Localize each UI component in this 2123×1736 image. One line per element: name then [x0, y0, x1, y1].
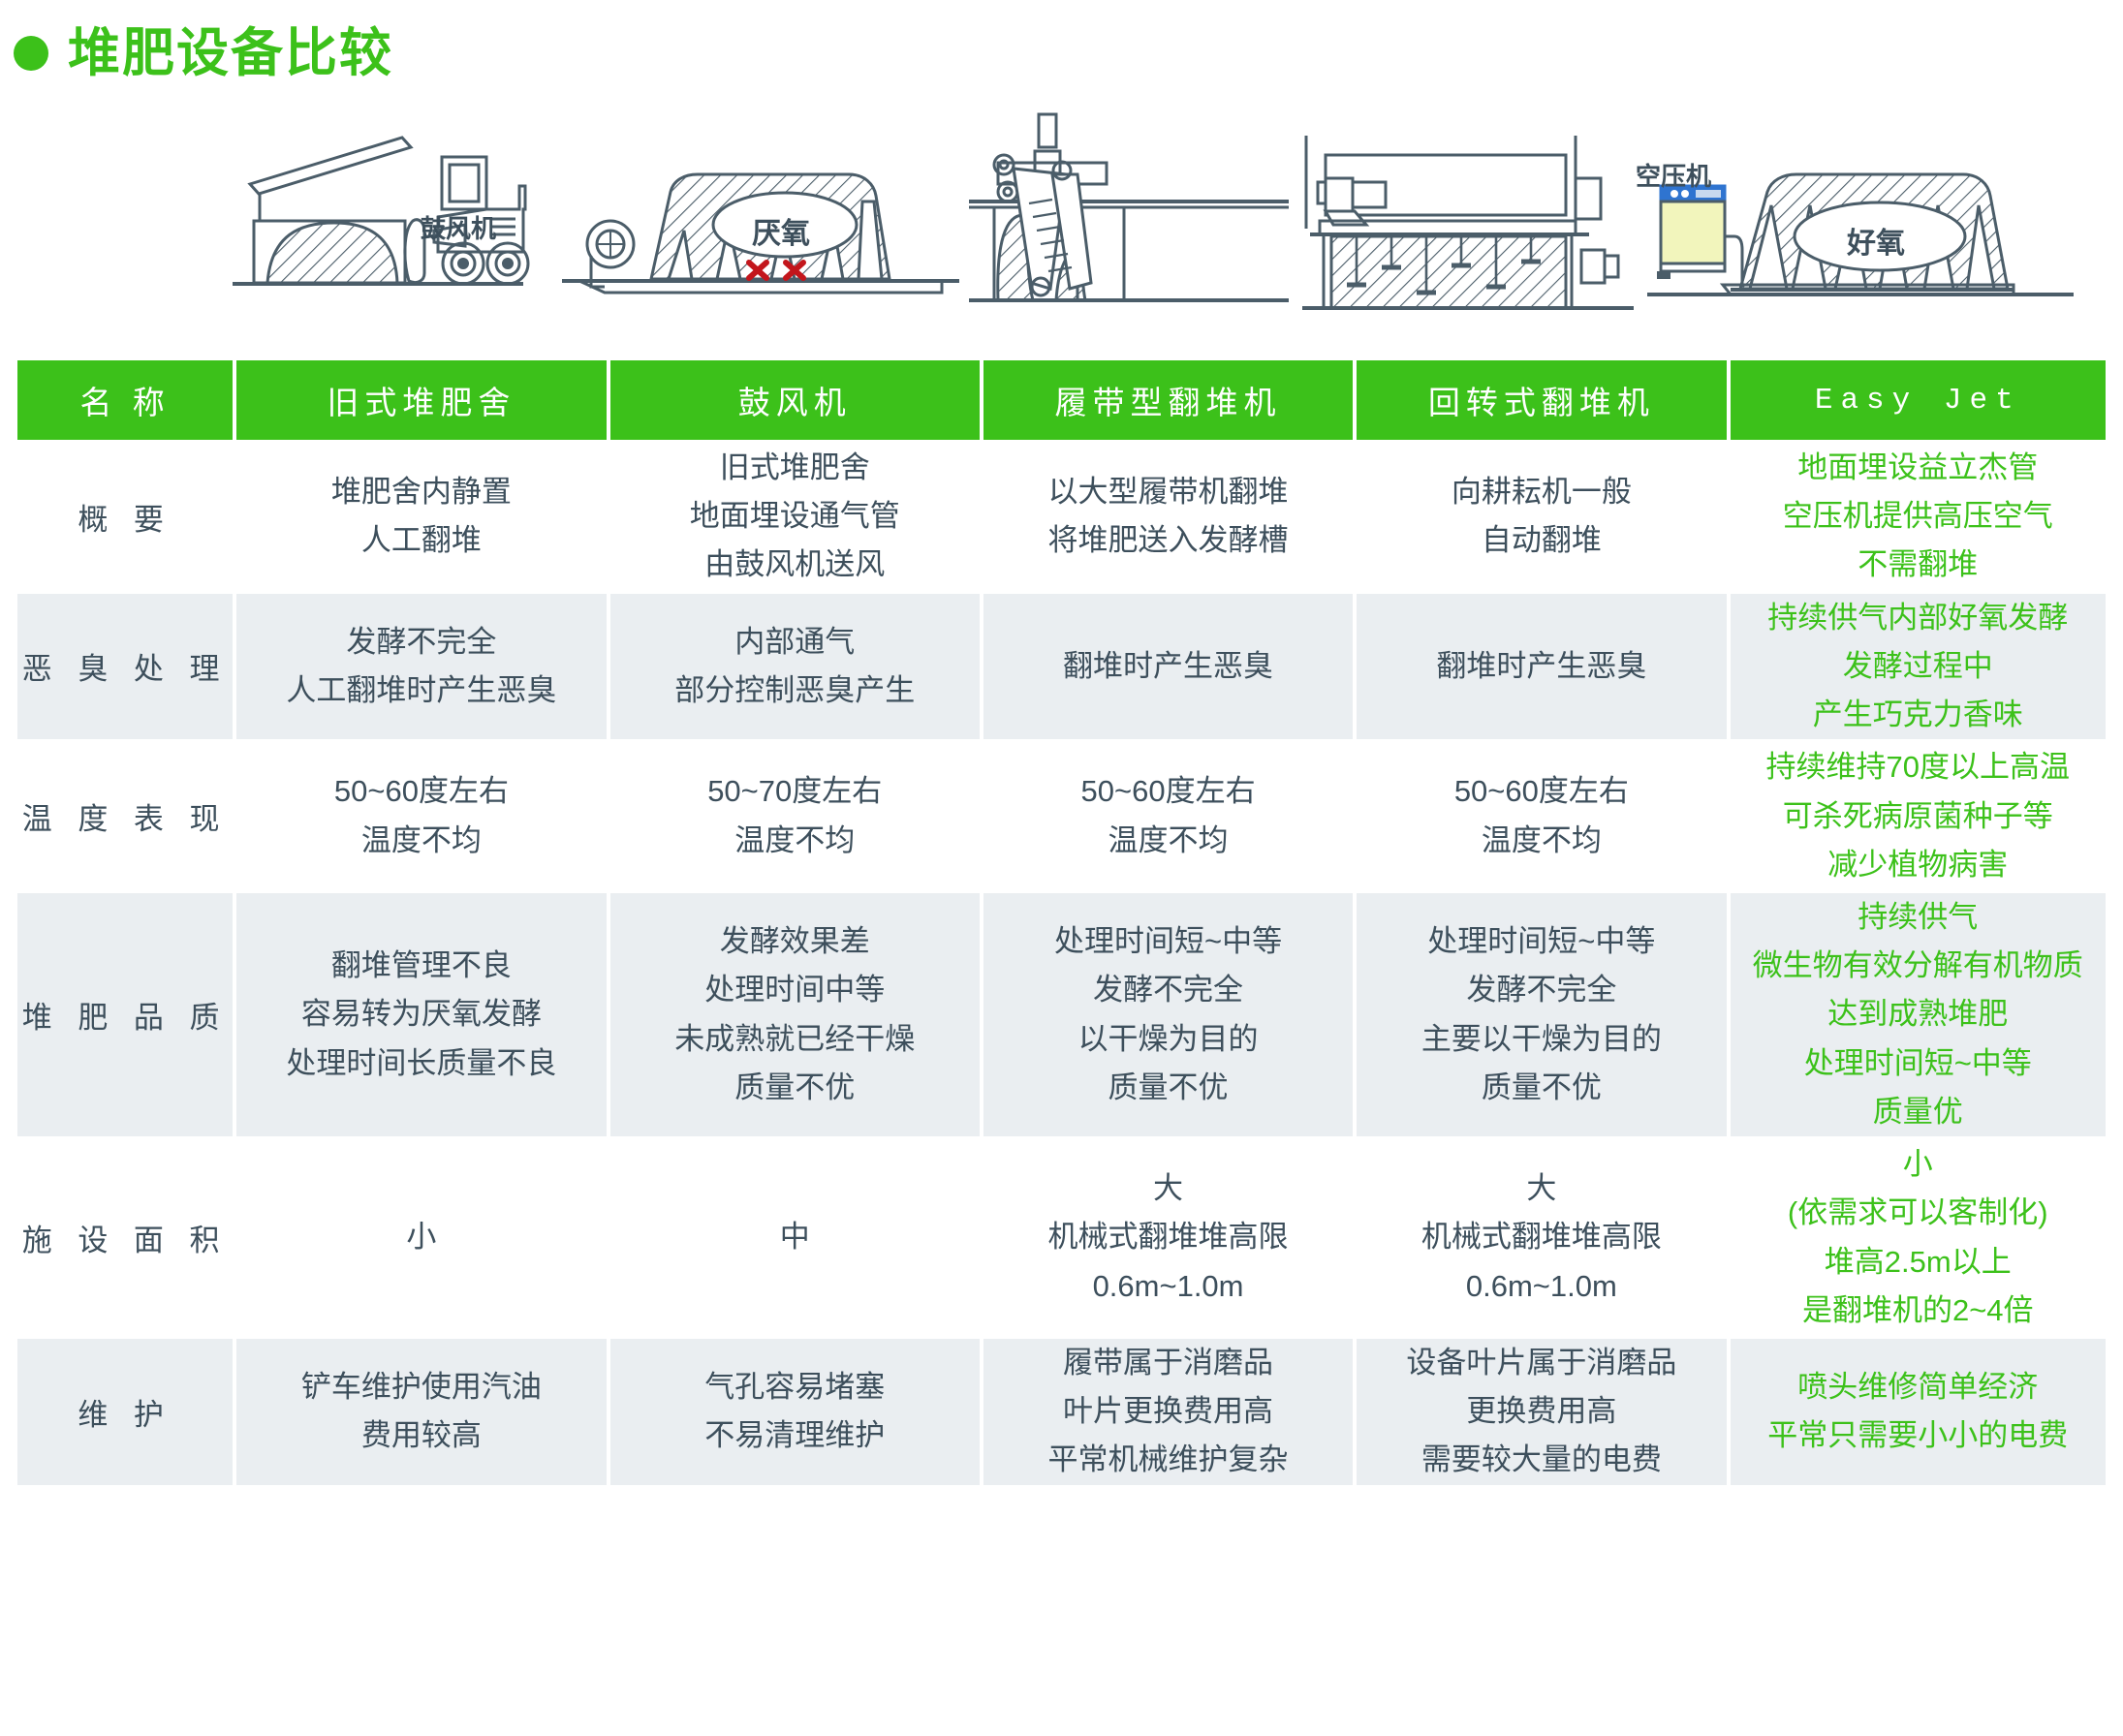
cell-line: 持续维持70度以上高温	[1731, 743, 2106, 791]
cell-line: 以干燥为目的	[983, 1015, 1353, 1064]
cell-line: 发酵不完全	[236, 618, 606, 666]
table-row: 概 要堆肥舍内静置人工翻堆旧式堆肥舍地面埋设通气管由鼓风机送风以大型履带机翻堆将…	[17, 444, 2106, 590]
green-dot-icon	[14, 36, 48, 71]
cell-line: 温度不均	[1357, 817, 1726, 865]
cell-line: 堆肥舍内静置	[236, 468, 606, 516]
table-cell: 翻堆时产生恶臭	[1357, 594, 1726, 740]
header-old-compost-shed: 旧式堆肥舍	[236, 360, 606, 440]
table-cell: 持续供气内部好氧发酵发酵过程中产生巧克力香味	[1731, 594, 2106, 740]
cell-line: 处理时间短~中等	[983, 917, 1353, 966]
cell-line: 中	[610, 1213, 980, 1261]
table-cell: 设备叶片属于消磨品更换费用高需要较大量的电费	[1357, 1339, 1726, 1485]
table-cell: 50~60度左右温度不均	[1357, 743, 1726, 889]
cell-line: 部分控制恶臭产生	[610, 666, 980, 715]
row-label: 恶 臭 处 理	[17, 594, 233, 740]
cell-line: 大	[1357, 1164, 1726, 1213]
table-cell: 翻堆时产生恶臭	[983, 594, 1353, 740]
table-row: 维 护铲车维护使用汽油费用较高气孔容易堵塞不易清理维护履带属于消磨品叶片更换费用…	[17, 1339, 2106, 1485]
cell-line: 更换费用高	[1357, 1387, 1726, 1436]
table-cell: 翻堆管理不良容易转为厌氧发酵处理时间长质量不良	[236, 893, 606, 1136]
cell-line: 翻堆管理不良	[236, 942, 606, 990]
cell-line: 发酵不完全	[983, 966, 1353, 1014]
row-label: 维 护	[17, 1339, 233, 1485]
cell-line: 履带属于消磨品	[983, 1339, 1353, 1387]
header-name: 名 称	[17, 360, 233, 440]
cell-line: 发酵不完全	[1357, 966, 1726, 1014]
cell-line: 50~70度左右	[610, 767, 980, 816]
table-cell: 履带属于消磨品叶片更换费用高平常机械维护复杂	[983, 1339, 1353, 1485]
cell-line: 堆高2.5m以上	[1731, 1238, 2106, 1286]
cell-line: 需要较大量的电费	[1357, 1436, 1726, 1484]
cell-line: 是翻堆机的2~4倍	[1731, 1286, 2106, 1335]
illustration-strip: 鼓风机 厌氧	[0, 107, 2123, 325]
cell-line: 叶片更换费用高	[983, 1387, 1353, 1436]
table-cell: 堆肥舍内静置人工翻堆	[236, 444, 606, 590]
cell-line: 气孔容易堵塞	[610, 1363, 980, 1411]
table-cell: 喷头维修简单经济平常只需要小小的电费	[1731, 1339, 2106, 1485]
cell-line: 处理时间短~中等	[1357, 917, 1726, 966]
easy-jet-illustration: 空压机 好氧	[1647, 136, 2103, 305]
table-cell: 旧式堆肥舍地面埋设通气管由鼓风机送风	[610, 444, 980, 590]
table-cell: 50~60度左右温度不均	[983, 743, 1353, 889]
row-label: 温 度 表 现	[17, 743, 233, 889]
cell-line: 小	[1731, 1140, 2106, 1189]
row-label: 堆 肥 品 质	[17, 893, 233, 1136]
cell-line: 温度不均	[610, 817, 980, 865]
cell-line: 处理时间长质量不良	[236, 1039, 606, 1088]
rotary-turner-illustration	[1298, 128, 1647, 317]
cell-line: 处理时间中等	[610, 966, 980, 1014]
table-cell: 发酵不完全人工翻堆时产生恶臭	[236, 594, 606, 740]
old-compost-shed-illustration	[233, 116, 591, 300]
page-title-row: 堆肥设备比较	[14, 27, 393, 79]
cell-line: 翻堆时产生恶臭	[1357, 642, 1726, 691]
cell-line: 地面埋设益立杰管	[1731, 444, 2106, 492]
cell-line: 由鼓风机送风	[610, 541, 980, 589]
cell-line: 处理时间短~中等	[1731, 1039, 2106, 1088]
cell-line: 以大型履带机翻堆	[983, 468, 1353, 516]
table-cell: 地面埋设益立杰管空压机提供高压空气不需翻堆	[1731, 444, 2106, 590]
crawler-turner-illustration	[969, 107, 1308, 315]
cell-line: 持续供气	[1731, 893, 2106, 942]
table-cell: 铲车维护使用汽油费用较高	[236, 1339, 606, 1485]
blower-pile-illustration: 鼓风机 厌氧	[562, 136, 969, 300]
table-cell: 持续供气微生物有效分解有机物质达到成熟堆肥处理时间短~中等质量优	[1731, 893, 2106, 1136]
row-label: 施 设 面 积	[17, 1140, 233, 1335]
cell-line: 未成熟就已经干燥	[610, 1015, 980, 1064]
table-cell: 50~70度左右温度不均	[610, 743, 980, 889]
cell-line: 不需翻堆	[1731, 541, 2106, 589]
anaerobic-label: 厌氧	[752, 209, 810, 252]
table-cell: 小	[236, 1140, 606, 1335]
cell-line: 持续供气内部好氧发酵	[1731, 594, 2106, 642]
cell-line: 50~60度左右	[983, 767, 1353, 816]
comparison-table: 名 称 旧式堆肥舍 鼓风机 履带型翻堆机 回转式翻堆机 Easy Jet 概 要…	[14, 356, 2109, 1489]
table-header-row: 名 称 旧式堆肥舍 鼓风机 履带型翻堆机 回转式翻堆机 Easy Jet	[17, 360, 2106, 440]
table-cell: 大机械式翻堆堆高限0.6m~1.0m	[983, 1140, 1353, 1335]
cell-line: 小	[236, 1213, 606, 1261]
table-cell: 大机械式翻堆堆高限0.6m~1.0m	[1357, 1140, 1726, 1335]
cell-line: 质量不优	[610, 1064, 980, 1112]
table-cell: 中	[610, 1140, 980, 1335]
aerobic-label: 好氧	[1847, 219, 1905, 262]
cell-line: 大	[983, 1164, 1353, 1213]
table-cell: 持续维持70度以上高温可杀死病原菌种子等减少植物病害	[1731, 743, 2106, 889]
table-row: 堆 肥 品 质翻堆管理不良容易转为厌氧发酵处理时间长质量不良发酵效果差处理时间中…	[17, 893, 2106, 1136]
cell-line: 产生巧克力香味	[1731, 691, 2106, 739]
table-cell: 50~60度左右温度不均	[236, 743, 606, 889]
header-easy-jet: Easy Jet	[1731, 360, 2106, 440]
cell-line: 减少植物病害	[1731, 841, 2106, 889]
table-cell: 以大型履带机翻堆将堆肥送入发酵槽	[983, 444, 1353, 590]
cell-line: 将堆肥送入发酵槽	[983, 516, 1353, 565]
table-row: 施 设 面 积小中大机械式翻堆堆高限0.6m~1.0m大机械式翻堆堆高限0.6m…	[17, 1140, 2106, 1335]
cell-line: 机械式翻堆堆高限	[983, 1213, 1353, 1261]
cell-line: (依需求可以客制化)	[1731, 1189, 2106, 1237]
compost-equipment-comparison-page: 堆肥设备比较	[0, 0, 2123, 1736]
cell-line: 向耕耘机一般	[1357, 468, 1726, 516]
cell-line: 50~60度左右	[236, 767, 606, 816]
table-cell: 小(依需求可以客制化)堆高2.5m以上是翻堆机的2~4倍	[1731, 1140, 2106, 1335]
cell-line: 自动翻堆	[1357, 516, 1726, 565]
table-cell: 气孔容易堵塞不易清理维护	[610, 1339, 980, 1485]
table-cell: 发酵效果差处理时间中等未成熟就已经干燥质量不优	[610, 893, 980, 1136]
header-blower: 鼓风机	[610, 360, 980, 440]
page-title: 堆肥设备比较	[68, 27, 393, 79]
table-cell: 内部通气部分控制恶臭产生	[610, 594, 980, 740]
cell-line: 机械式翻堆堆高限	[1357, 1213, 1726, 1261]
cell-line: 喷头维修简单经济	[1731, 1363, 2106, 1411]
cell-line: 可杀死病原菌种子等	[1731, 792, 2106, 841]
cell-line: 达到成熟堆肥	[1731, 990, 2106, 1038]
cell-line: 质量不优	[1357, 1064, 1726, 1112]
cell-line: 设备叶片属于消磨品	[1357, 1339, 1726, 1387]
cell-line: 发酵效果差	[610, 917, 980, 966]
cell-line: 发酵过程中	[1731, 642, 2106, 691]
table-cell: 处理时间短~中等发酵不完全主要以干燥为目的质量不优	[1357, 893, 1726, 1136]
cell-line: 费用较高	[236, 1411, 606, 1460]
cell-line: 平常只需要小小的电费	[1731, 1411, 2106, 1460]
row-label: 概 要	[17, 444, 233, 590]
cell-line: 空压机提供高压空气	[1731, 492, 2106, 541]
cell-line: 地面埋设通气管	[610, 492, 980, 541]
table-row: 恶 臭 处 理发酵不完全人工翻堆时产生恶臭内部通气部分控制恶臭产生翻堆时产生恶臭…	[17, 594, 2106, 740]
table-row: 温 度 表 现50~60度左右温度不均50~70度左右温度不均50~60度左右温…	[17, 743, 2106, 889]
header-crawler-turner: 履带型翻堆机	[983, 360, 1353, 440]
air-compressor-label: 空压机	[1636, 157, 1711, 193]
cell-line: 温度不均	[983, 817, 1353, 865]
cell-line: 50~60度左右	[1357, 767, 1726, 816]
cell-line: 0.6m~1.0m	[983, 1262, 1353, 1311]
cell-line: 容易转为厌氧发酵	[236, 990, 606, 1038]
cell-line: 温度不均	[236, 817, 606, 865]
cell-line: 人工翻堆	[236, 516, 606, 565]
cell-line: 翻堆时产生恶臭	[983, 642, 1353, 691]
table-cell: 处理时间短~中等发酵不完全以干燥为目的质量不优	[983, 893, 1353, 1136]
cell-line: 不易清理维护	[610, 1411, 980, 1460]
cell-line: 质量优	[1731, 1088, 2106, 1136]
cell-line: 平常机械维护复杂	[983, 1436, 1353, 1484]
cell-line: 铲车维护使用汽油	[236, 1363, 606, 1411]
blower-label: 鼓风机	[421, 209, 496, 245]
cell-line: 微生物有效分解有机物质	[1731, 942, 2106, 990]
cell-line: 主要以干燥为目的	[1357, 1015, 1726, 1064]
cell-line: 质量不优	[983, 1064, 1353, 1112]
cell-line: 0.6m~1.0m	[1357, 1262, 1726, 1311]
table-cell: 向耕耘机一般自动翻堆	[1357, 444, 1726, 590]
header-rotary-turner: 回转式翻堆机	[1357, 360, 1726, 440]
cell-line: 旧式堆肥舍	[610, 444, 980, 492]
cell-line: 内部通气	[610, 618, 980, 666]
table-body: 概 要堆肥舍内静置人工翻堆旧式堆肥舍地面埋设通气管由鼓风机送风以大型履带机翻堆将…	[17, 444, 2106, 1485]
cell-line: 人工翻堆时产生恶臭	[236, 666, 606, 715]
